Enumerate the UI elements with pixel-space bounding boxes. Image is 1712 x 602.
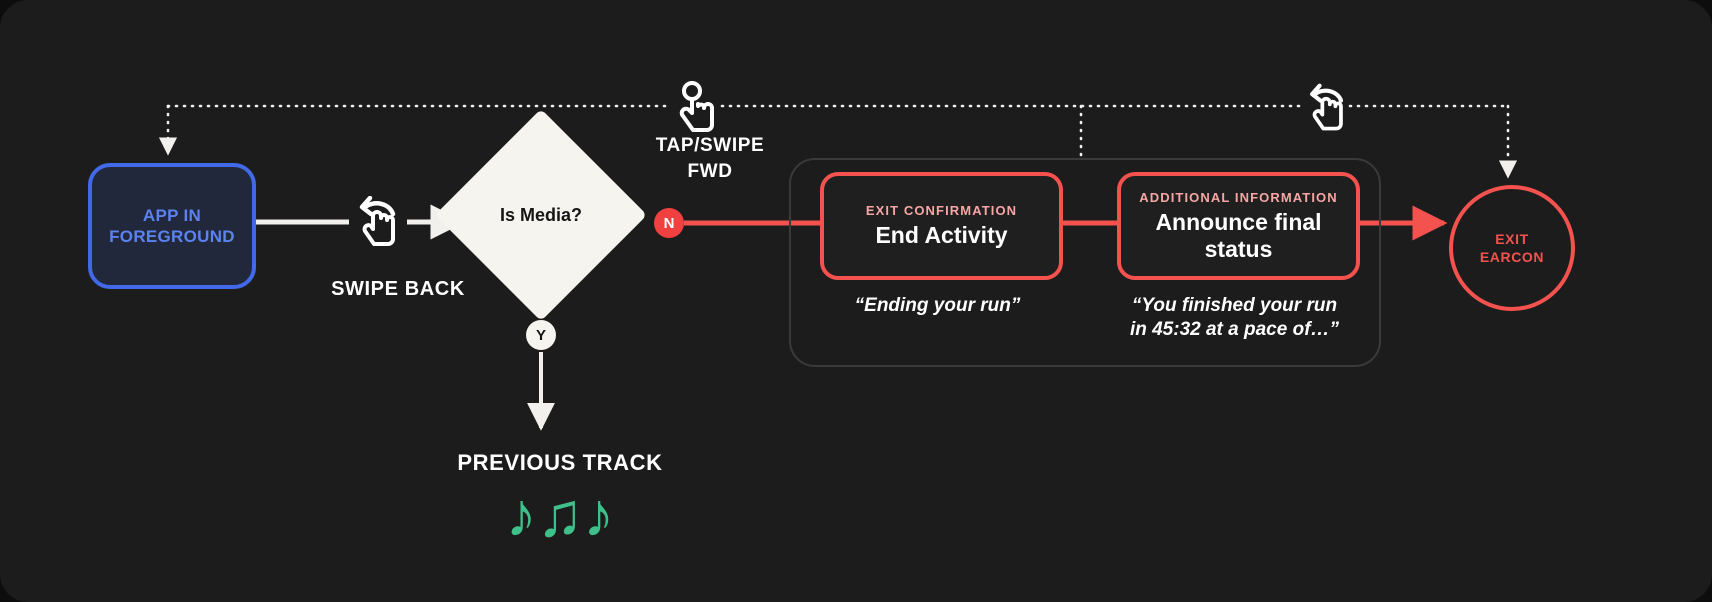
swipe-back-gesture-icon-top [1300,82,1354,136]
exit-earcon-label: EXIT EARCON [1480,230,1544,266]
tap-gesture-icon [672,80,724,134]
decision-label: Is Media? [466,140,616,290]
card-exit-kicker: EXIT CONFIRMATION [866,203,1017,218]
app-label-line1: APP IN [143,206,201,225]
card-info-title: Announce final status [1155,209,1321,261]
node-app-in-foreground[interactable]: APP IN FOREGROUND [88,163,256,289]
card-exit-title: End Activity [875,222,1007,248]
exit-earcon-line2: EARCON [1480,249,1544,265]
card-info-quote: “You finished your run in 45:32 at a pac… [1112,294,1357,343]
app-in-foreground-label: APP IN FOREGROUND [109,205,235,248]
app-label-line2: FOREGROUND [109,227,235,246]
card-info-quote-line1: “You finished your run [1132,295,1337,316]
label-swipe-back: SWIPE BACK [278,278,518,301]
card-info-kicker: ADDITIONAL INFORMATION [1139,190,1337,205]
card-additional-information[interactable]: ADDITIONAL INFORMATION Announce final st… [1117,172,1360,280]
label-previous-track: PREVIOUS TRACK [400,450,720,476]
swipe-back-gesture-icon [349,196,407,250]
card-info-title-line1: Announce final [1155,209,1321,235]
card-exit-quote: “Ending your run” [820,294,1055,318]
branch-no-badge: N [654,208,684,238]
node-exit-earcon[interactable]: EXIT EARCON [1449,185,1575,311]
card-info-quote-line2: in 45:32 at a pace of…” [1130,319,1339,340]
music-notes-icon: ♪♫♪ [470,485,650,547]
label-tap-swipe-line1: TAP/SWIPE [656,135,765,156]
exit-earcon-line1: EXIT [1495,231,1529,247]
label-tap-swipe-line2: FWD [687,161,732,182]
branch-yes-badge: Y [526,320,556,350]
card-exit-confirmation[interactable]: EXIT CONFIRMATION End Activity [820,172,1063,280]
card-info-title-line2: status [1205,236,1273,262]
label-tap-swipe-fwd: TAP/SWIPE FWD [610,133,810,184]
diagram-canvas: APP IN FOREGROUND Is Media? N Y EXI [0,0,1712,602]
